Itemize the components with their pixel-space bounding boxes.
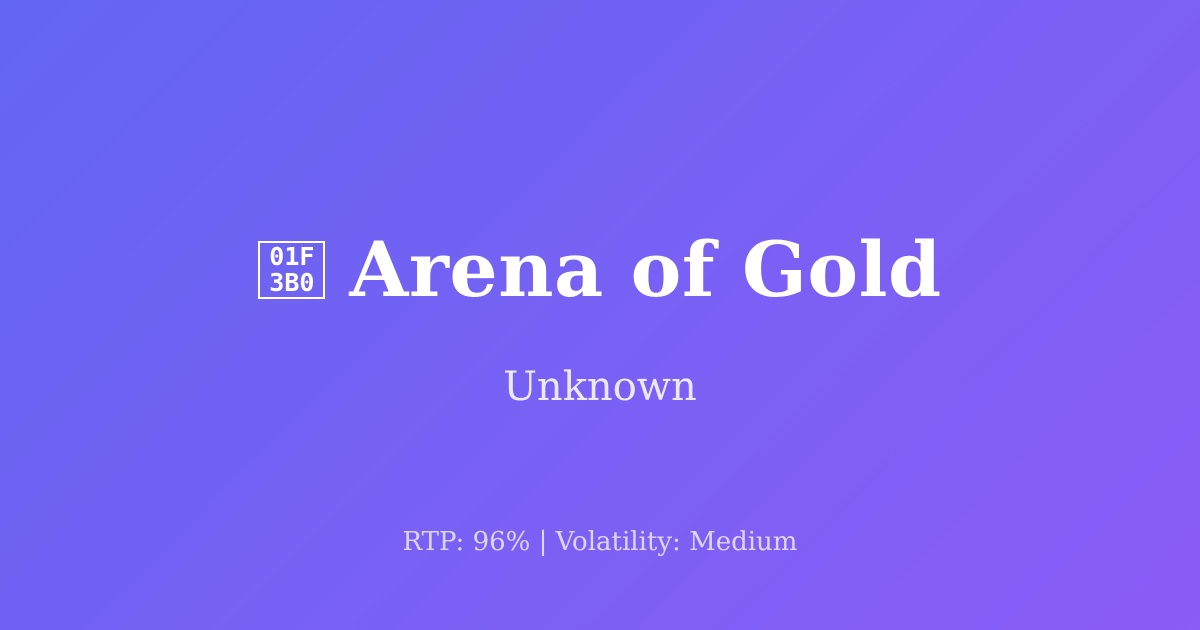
slot-machine-emoji-icon: 01F 3B0	[258, 241, 325, 299]
game-meta-line: RTP: 96% | Volatility: Medium	[0, 526, 1200, 560]
title-row: 01F 3B0 Arena of Gold	[0, 232, 1200, 308]
game-title: Arena of Gold	[349, 232, 941, 308]
game-provider: Unknown	[0, 363, 1200, 411]
emoji-codepoint-bottom: 3B0	[269, 270, 314, 296]
game-preview-card: 01F 3B0 Arena of Gold Unknown RTP: 96% |…	[0, 0, 1200, 630]
emoji-codepoint-top: 01F	[269, 244, 314, 270]
